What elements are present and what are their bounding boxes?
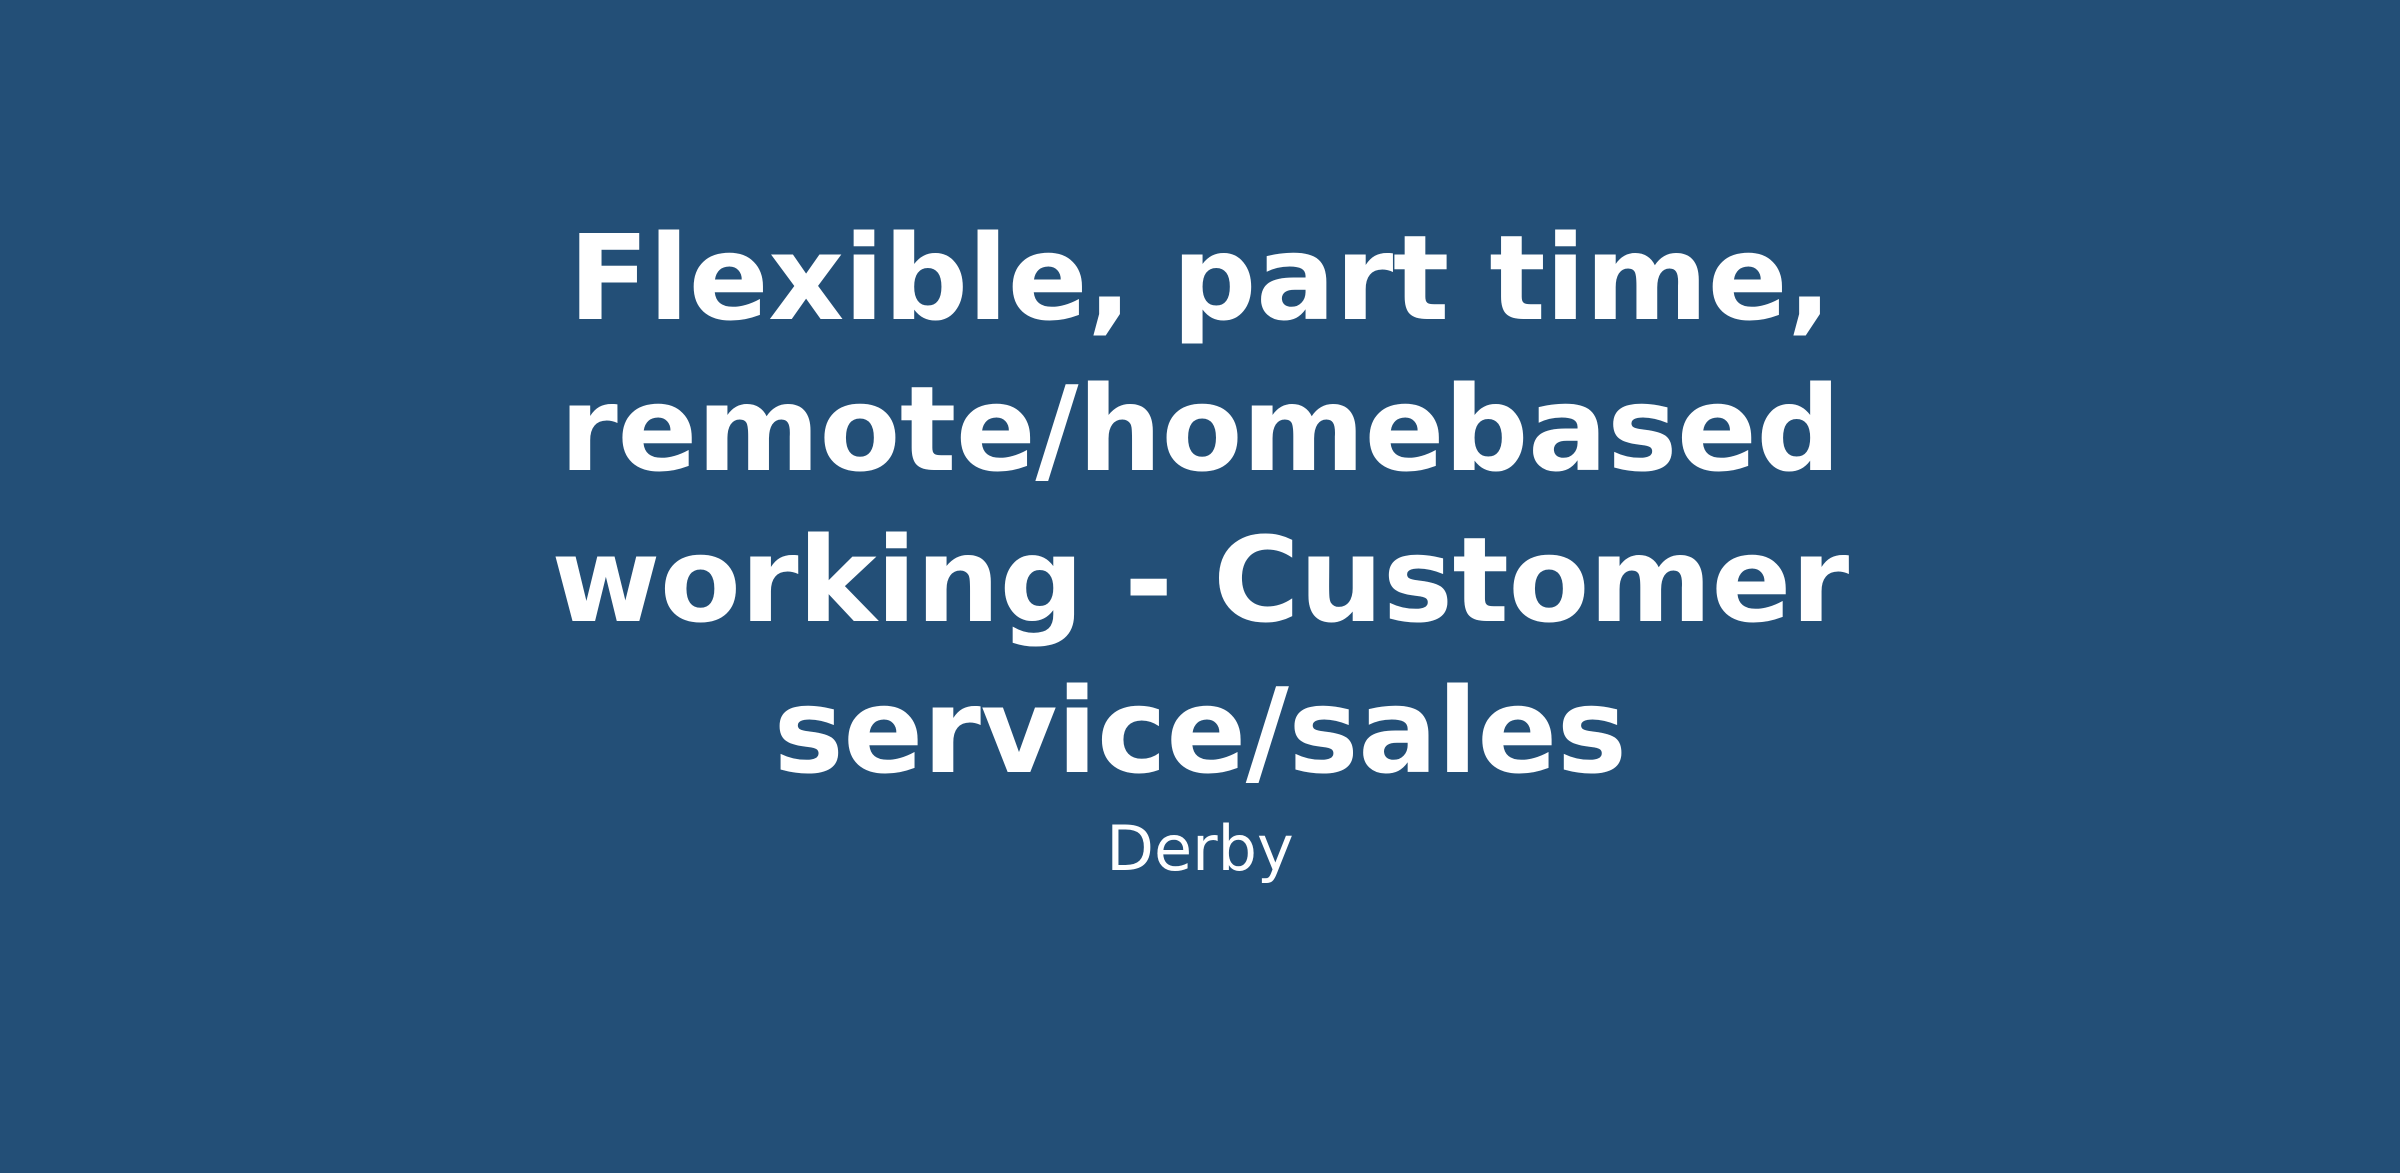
card-content: Flexible, part time, remote/homebased wo…: [490, 203, 1910, 891]
page-title: Flexible, part time, remote/homebased wo…: [490, 203, 1910, 807]
location-subtitle: Derby: [490, 807, 1910, 891]
job-listing-card: Flexible, part time, remote/homebased wo…: [0, 0, 2400, 1173]
